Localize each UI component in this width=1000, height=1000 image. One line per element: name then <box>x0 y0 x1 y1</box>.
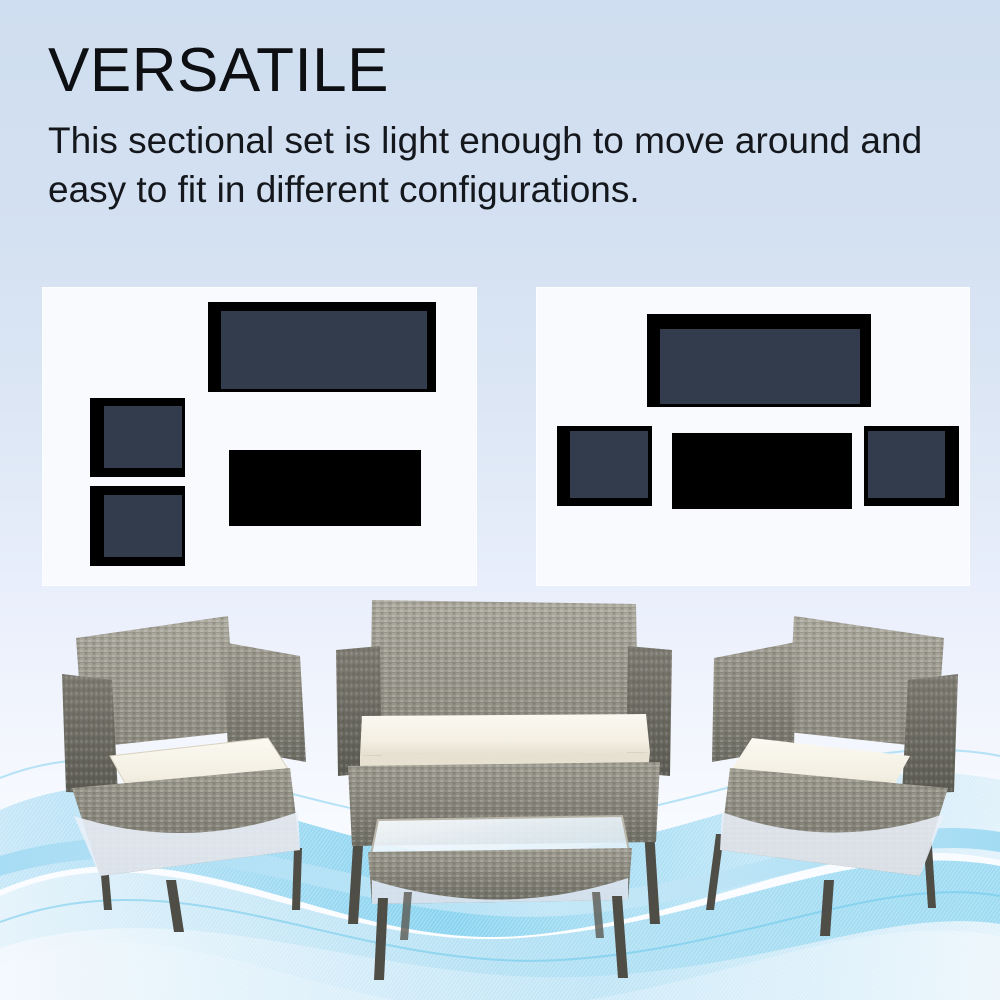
diagram-chair-glyph-left-2 <box>90 486 185 566</box>
diagram-table-glyph <box>229 450 421 526</box>
page-subtitle: This sectional set is light enough to mo… <box>48 117 928 215</box>
armchair-left <box>62 616 306 932</box>
product-photo <box>0 580 1000 1000</box>
diagram-chair-glyph-right-1 <box>557 426 652 506</box>
diagram-sofa-glyph <box>208 302 436 392</box>
coffee-table <box>368 816 632 980</box>
headline-block: VERSATILE This sectional set is light en… <box>48 38 948 215</box>
page-title: VERSATILE <box>48 38 948 103</box>
configuration-option-b <box>537 288 969 585</box>
diagram-chair-glyph-left-1 <box>90 398 185 477</box>
configuration-option-a <box>43 288 476 585</box>
diagram-sofa-glyph <box>647 314 871 407</box>
diagram-chair-glyph-right-2 <box>864 426 959 506</box>
diagram-table-glyph <box>672 433 852 509</box>
product-feature-banner: VERSATILE This sectional set is light en… <box>0 0 1000 1000</box>
armchair-right <box>706 616 958 936</box>
configuration-diagrams <box>43 288 969 585</box>
